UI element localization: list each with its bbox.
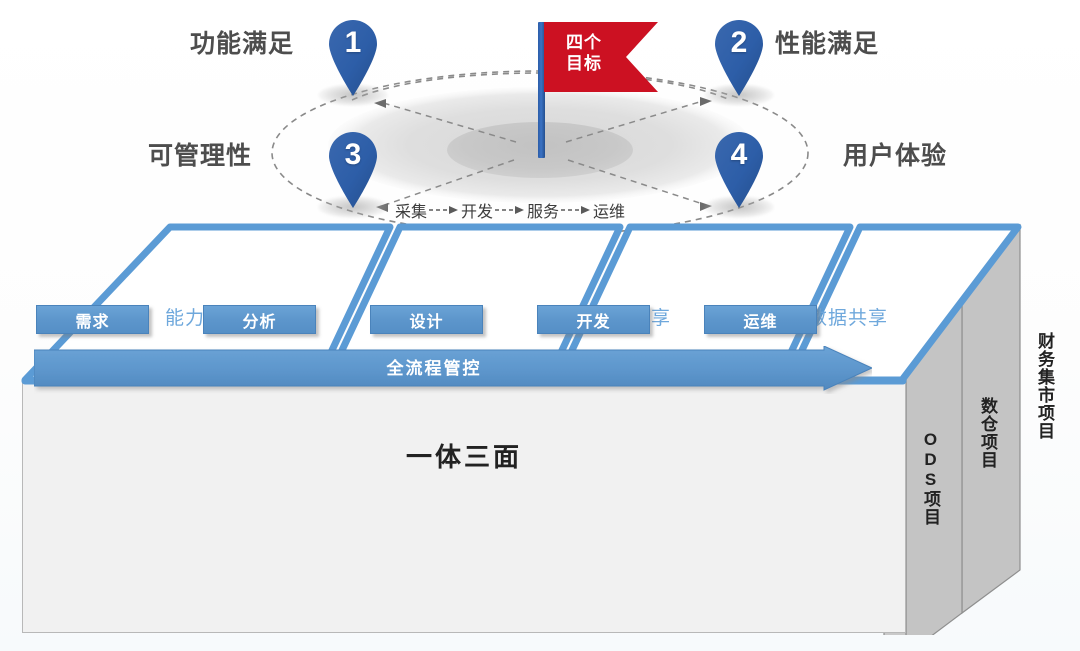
stage-chip-design[interactable]: 设计 xyxy=(370,305,483,334)
map-pin-2[interactable]: 2 xyxy=(712,18,766,100)
stage-chip-development[interactable]: 开发 xyxy=(537,305,650,334)
pin-number-1: 1 xyxy=(326,26,380,60)
map-pin-4[interactable]: 4 xyxy=(712,130,766,212)
goal-flag: 四个 目标 xyxy=(538,18,668,158)
map-pin-3[interactable]: 3 xyxy=(326,130,380,212)
side-panel-label-2: 财务集市项目 xyxy=(1032,332,1057,440)
three-face-box: 能力协同 场景协同 模型共享 数据共享 ODS项目 数仓项目 财务集市项目 需求… xyxy=(0,215,1080,635)
goal-label-1: 功能满足 xyxy=(190,24,294,60)
flag-label-line2: 目标 xyxy=(566,54,602,73)
stage-chip-analysis[interactable]: 分析 xyxy=(203,305,316,334)
side-panel-label-0: ODS项目 xyxy=(918,430,943,526)
pin-number-4: 4 xyxy=(712,138,766,172)
side-panel-label-1: 数仓项目 xyxy=(975,397,1000,469)
map-pin-1[interactable]: 1 xyxy=(326,18,380,100)
box-caption: 一体三面 xyxy=(22,437,906,474)
stage-chip-requirement[interactable]: 需求 xyxy=(36,305,149,334)
full-process-arrow-icon xyxy=(34,346,872,394)
goal-label-2: 性能满足 xyxy=(775,24,879,60)
flag-label: 四个 目标 xyxy=(554,32,614,74)
diagram-canvas: 功能满足 性能满足 可管理性 用户体验 1 2 xyxy=(0,0,1080,651)
top-cell-label-3: 数据共享 xyxy=(808,303,888,330)
stage-chip-operations[interactable]: 运维 xyxy=(704,305,817,334)
flag-label-line1: 四个 xyxy=(566,33,602,52)
pin-number-3: 3 xyxy=(326,138,380,172)
goals-orbit-scene: 功能满足 性能满足 可管理性 用户体验 1 2 xyxy=(0,0,1080,235)
pin-number-2: 2 xyxy=(712,26,766,60)
goal-label-4: 用户体验 xyxy=(843,136,947,172)
goal-label-3: 可管理性 xyxy=(148,136,252,172)
top-face-panels xyxy=(0,215,1080,635)
